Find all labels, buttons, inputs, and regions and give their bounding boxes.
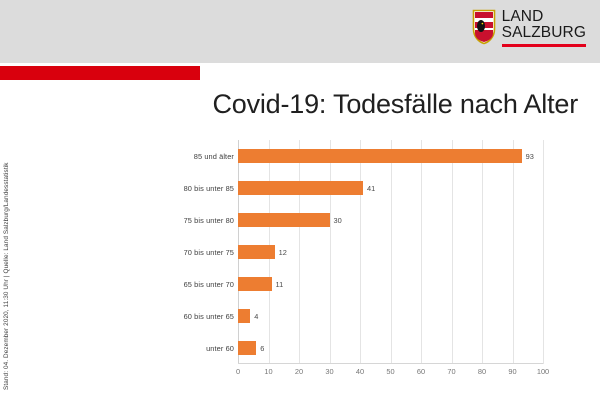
category-axis: 85 und älter80 bis unter 8575 bis unter … — [178, 140, 238, 364]
category-label: 65 bis unter 70 — [178, 268, 238, 300]
bar — [238, 277, 272, 291]
page-title: Covid-19: Todesfälle nach Alter — [0, 88, 578, 120]
bar-value-label: 30 — [334, 216, 342, 225]
value-axis-tick-label: 0 — [236, 367, 240, 376]
salzburg-coat-of-arms-icon — [472, 9, 496, 45]
bar-row: 4 — [238, 300, 543, 332]
bar — [238, 245, 275, 259]
bar-row: 12 — [238, 236, 543, 268]
bar-value-label: 6 — [260, 344, 264, 353]
bar-row: 41 — [238, 172, 543, 204]
category-label: 85 und älter — [178, 140, 238, 172]
category-label: 70 bis unter 75 — [178, 236, 238, 268]
category-label: 75 bis unter 80 — [178, 204, 238, 236]
red-accent-bar — [0, 66, 200, 80]
bar-value-label: 11 — [276, 280, 284, 289]
bar — [238, 181, 363, 195]
bar — [238, 309, 250, 323]
bar — [238, 213, 330, 227]
land-salzburg-logo: LAND SALZBURG — [472, 9, 586, 47]
value-axis-tick-label: 90 — [508, 367, 516, 376]
gridline — [543, 140, 544, 364]
bar-row: 93 — [238, 140, 543, 172]
category-label: 80 bis unter 85 — [178, 172, 238, 204]
bar-row: 6 — [238, 332, 543, 364]
bar — [238, 149, 522, 163]
bar-row: 30 — [238, 204, 543, 236]
value-axis-tick-label: 10 — [264, 367, 272, 376]
value-axis: 0102030405060708090100 — [238, 364, 543, 380]
plot-area: 934130121146 — [238, 140, 543, 364]
bar-value-label: 4 — [254, 312, 258, 321]
logo-line-land: LAND — [502, 9, 586, 25]
logo-underline-rule — [502, 44, 586, 47]
category-label: 60 bis unter 65 — [178, 300, 238, 332]
bar-row: 11 — [238, 268, 543, 300]
value-axis-tick-label: 20 — [295, 367, 303, 376]
bar-value-label: 12 — [279, 248, 287, 257]
value-axis-tick-label: 50 — [386, 367, 394, 376]
value-axis-tick-label: 100 — [537, 367, 549, 376]
bar-value-label: 93 — [526, 152, 534, 161]
bar-chart: 85 und älter80 bis unter 8575 bis unter … — [178, 140, 550, 380]
value-axis-tick-label: 30 — [325, 367, 333, 376]
category-label: unter 60 — [178, 332, 238, 364]
value-axis-tick-label: 40 — [356, 367, 364, 376]
bar — [238, 341, 256, 355]
source-note: Stand: 04. Dezember 2020, 11:30 Uhr | Qu… — [2, 130, 11, 390]
value-axis-tick-label: 70 — [447, 367, 455, 376]
bar-value-label: 41 — [367, 184, 375, 193]
bar-series: 934130121146 — [238, 140, 543, 364]
logo-line-salzburg: SALZBURG — [502, 25, 586, 41]
value-axis-tick-label: 80 — [478, 367, 486, 376]
value-axis-tick-label: 60 — [417, 367, 425, 376]
logo-wordmark: LAND SALZBURG — [502, 9, 586, 47]
